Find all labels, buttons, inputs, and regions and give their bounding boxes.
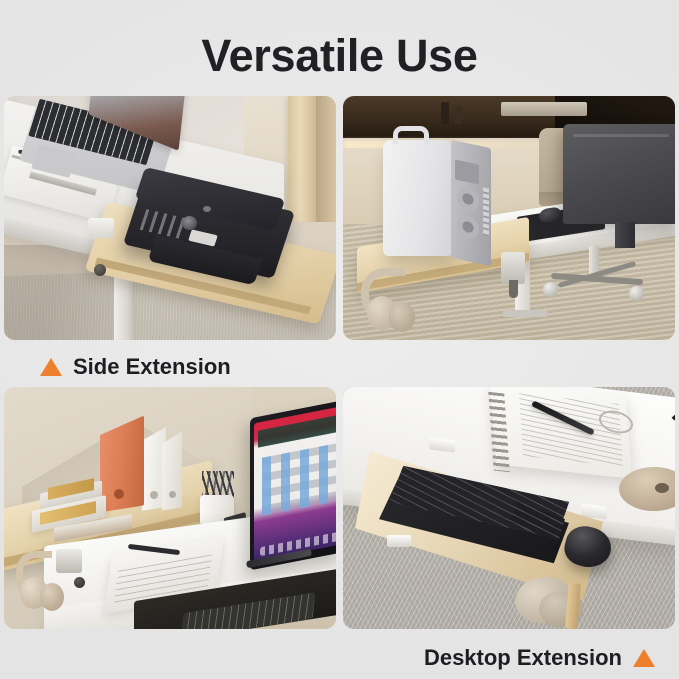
monitor-highlight (573, 134, 669, 137)
pc-ports (483, 187, 489, 236)
chair-caster-2 (629, 286, 644, 301)
pc-tower-handle (393, 126, 429, 144)
screen-wallpaper-top (258, 415, 336, 447)
scene-bottom-right (343, 387, 675, 629)
triangle-up-icon (633, 649, 655, 667)
scene-top-left (4, 96, 336, 340)
panel-pc-tower-on-side-extension (343, 96, 675, 340)
shelf-bottle (441, 102, 449, 124)
shelf-books (501, 102, 587, 116)
caption-side-extension: Side Extension (40, 354, 231, 380)
clamp-screw (509, 280, 518, 298)
printer-dial (182, 216, 197, 230)
headphones-earcup-2 (389, 302, 415, 332)
chair-caster (543, 282, 558, 297)
panel-printer-on-side-extension (4, 96, 336, 340)
triangle-up-icon (40, 358, 62, 376)
desk-foot (503, 310, 547, 317)
magazine-file-hole (150, 491, 158, 499)
monitor-screen (254, 407, 336, 562)
desk-clamp (88, 218, 114, 238)
caption-side-extension-label: Side Extension (73, 354, 231, 380)
page-title: Versatile Use (0, 30, 679, 82)
scene-bottom-left (4, 387, 336, 629)
desk-clamp (56, 549, 82, 573)
clamp-knob (74, 577, 85, 588)
stool-hole (655, 483, 669, 493)
scene-top-right (343, 96, 675, 340)
printer-logo (203, 206, 211, 212)
shelf-bottle-2 (455, 106, 462, 124)
monitor-stand (615, 222, 635, 248)
caption-desktop-extension-label: Desktop Extension (424, 645, 622, 671)
panel-stationery-on-side-extension (4, 387, 336, 629)
magazine-file-orange-hole (114, 489, 124, 499)
monitor-back (563, 124, 675, 224)
clamp-knob (94, 264, 106, 276)
infographic-page: Versatile Use (0, 0, 679, 679)
magazine-file-white-2 (162, 431, 182, 510)
magazine-file-hole-2 (169, 491, 176, 498)
desk-clamp-bracket-3 (387, 535, 411, 547)
screen-app-grid (262, 443, 336, 516)
pc-tower-front (383, 140, 453, 256)
caption-desktop-extension: Desktop Extension (424, 645, 655, 671)
panel-keyboard-on-desktop-extension (343, 387, 675, 629)
headphones-earcup-2 (40, 583, 64, 611)
